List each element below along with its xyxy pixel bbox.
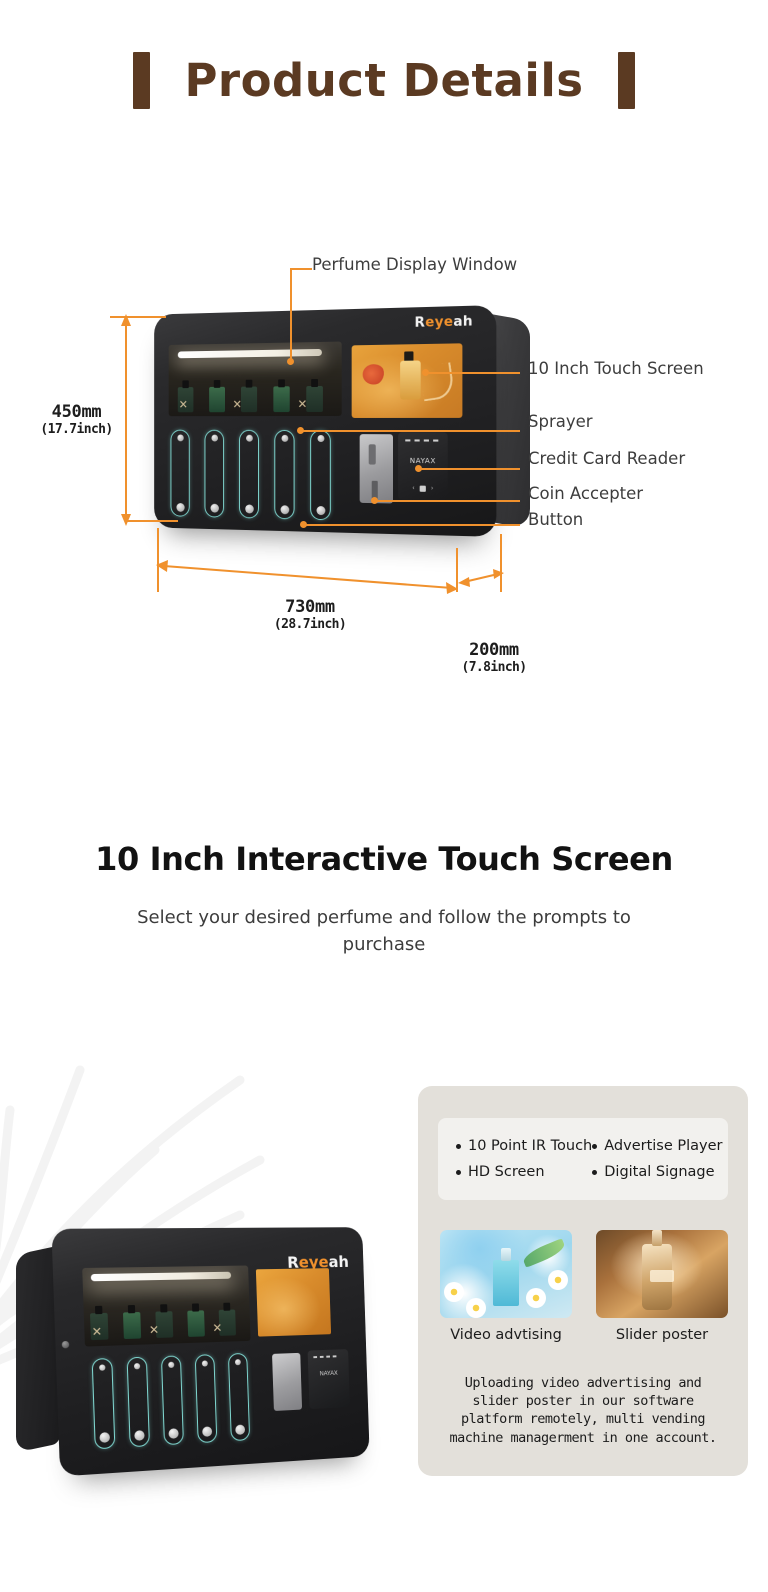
machine-front-panel: Reyeah ✕ ✕ ✕ <box>154 305 496 537</box>
vending-machine-illustration: Reyeah ✕ ✕ ✕ <box>144 310 492 532</box>
leader-line-card-reader <box>418 468 520 470</box>
leader-dot-display-window <box>287 358 294 365</box>
leader-dot-sprayer <box>297 427 304 434</box>
leader-line-display-window-h <box>290 268 312 270</box>
feature-item-digital-signage: Digital Signage <box>592 1164 724 1180</box>
daisy-flower-icon <box>444 1282 464 1302</box>
leader-line-touch-screen <box>425 372 520 374</box>
daisy-flower-icon <box>548 1270 568 1290</box>
dispensing-slot-row <box>170 430 351 523</box>
ribbon-decoration: ✕ <box>230 399 245 410</box>
dimension-label-width: 730mm (28.7inch) <box>230 597 390 632</box>
card-reader-brand-label: NAYAX <box>308 1370 349 1378</box>
dispensing-slot[interactable] <box>204 430 224 518</box>
feature-label: HD Screen <box>468 1164 545 1180</box>
thumbnail-gallery: Video advtising Slider poster <box>440 1230 728 1343</box>
perfume-bottle <box>187 1310 205 1337</box>
perfume-bottle <box>209 387 225 412</box>
feature-label: 10 Point IR Touch <box>468 1138 592 1154</box>
machine-photo-coin-accepter[interactable] <box>272 1353 302 1411</box>
thumbnail-image-blue-perfume[interactable] <box>440 1230 572 1318</box>
thumbnail-caption: Video advtising <box>440 1327 572 1343</box>
perfume-bottle <box>123 1312 141 1339</box>
dimension-arrow-depth <box>456 566 506 590</box>
dispensing-slot[interactable] <box>161 1355 184 1445</box>
feature-label: Digital Signage <box>604 1164 714 1180</box>
machine-brand-logo: Reyeah <box>415 314 473 331</box>
daisy-flower-icon <box>466 1298 486 1318</box>
touchscreen-section-heading: 10 Inch Interactive Touch Screen <box>0 840 768 878</box>
dispensing-slot[interactable] <box>239 430 259 519</box>
touchscreen-section-subheading: Select your desired perfume and follow t… <box>0 904 768 958</box>
ribbon-decoration: ✕ <box>176 400 191 411</box>
dispensing-slot[interactable] <box>170 430 189 517</box>
card-reader-keypad[interactable]: ‹› <box>398 485 448 492</box>
dispensing-slot[interactable] <box>195 1354 218 1443</box>
thumbnail-video-advertising[interactable]: Video advtising <box>440 1230 572 1343</box>
dimension-label-depth: 200mm (7.8inch) <box>424 640 564 675</box>
leader-line-display-window <box>290 268 292 362</box>
dispensing-slot[interactable] <box>127 1357 150 1448</box>
feature-label: Advertise Player <box>604 1138 722 1154</box>
ribbon-decoration: ✕ <box>295 399 311 410</box>
features-info-panel: 10 Point IR Touch Advertise Player HD Sc… <box>418 1086 748 1476</box>
callout-touch-screen: 10 Inch Touch Screen <box>528 359 704 378</box>
bullet-dot-icon <box>592 1144 597 1149</box>
vending-machine-photo: Reyeah ✕ ✕ ✕ <box>28 1228 380 1468</box>
callout-button: Button <box>528 510 583 529</box>
machine-photo-touch-screen[interactable] <box>256 1268 331 1336</box>
touch-screen-display[interactable] <box>352 343 463 418</box>
thumbnail-image-gold-perfume[interactable] <box>596 1230 728 1318</box>
leader-line-coin-accepter <box>375 500 520 502</box>
callout-credit-card-reader: Credit Card Reader <box>528 449 685 468</box>
coin-accepter-unit[interactable] <box>360 434 393 503</box>
dimension-arrow-width <box>152 558 462 594</box>
machine-lock-icon <box>62 1341 70 1349</box>
bottle-label-band <box>650 1270 674 1282</box>
daisy-flower-icon <box>526 1288 546 1308</box>
card-reader-brand-label: NAYAX <box>398 457 448 466</box>
card-reader-leds <box>313 1355 336 1358</box>
thumbnail-slider-poster[interactable]: Slider poster <box>596 1230 728 1343</box>
feature-item-hd-screen: HD Screen <box>456 1164 592 1180</box>
machine-photo-slot-row <box>92 1352 264 1451</box>
machine-photo-bottle-row: ✕ ✕ ✕ <box>85 1291 250 1340</box>
machine-photo-display-window: ✕ ✕ ✕ <box>82 1265 250 1346</box>
card-reader-leds <box>405 439 438 441</box>
leader-dot-coin-accepter <box>371 497 378 504</box>
screen-flower-graphic <box>362 364 384 385</box>
dispensing-slot[interactable] <box>274 430 294 520</box>
thumbnail-caption: Slider poster <box>596 1327 728 1343</box>
machine-photo-card-reader[interactable]: NAYAX <box>308 1349 350 1409</box>
bullet-dot-icon <box>456 1170 461 1175</box>
feature-item-advertise-player: Advertise Player <box>592 1138 724 1154</box>
dispensing-slot[interactable] <box>228 1353 250 1441</box>
perfume-bottle <box>273 386 289 412</box>
product-dimension-diagram: Reyeah ✕ ✕ ✕ <box>0 0 768 760</box>
display-light-bar <box>178 349 322 358</box>
ribbon-decoration: ✕ <box>209 1323 225 1334</box>
software-platform-note: Uploading video advertising and slider p… <box>442 1374 724 1447</box>
callout-sprayer: Sprayer <box>528 412 593 431</box>
ribbon-decoration: ✕ <box>88 1326 105 1338</box>
feature-bullet-card: 10 Point IR Touch Advertise Player HD Sc… <box>438 1118 728 1200</box>
dispensing-slot[interactable] <box>92 1358 116 1449</box>
credit-card-reader-unit[interactable]: NAYAX ‹› <box>398 432 448 500</box>
ribbon-decoration: ✕ <box>146 1325 162 1337</box>
dimension-label-height: 450mm (17.7inch) <box>24 402 129 437</box>
screen-bottle-graphic <box>400 360 421 399</box>
perfume-bottle-row: ✕ ✕ ✕ <box>172 368 341 413</box>
leaf-graphic <box>521 1238 567 1267</box>
leader-line-sprayer <box>301 430 520 432</box>
feature-item-ir-touch: 10 Point IR Touch <box>456 1138 592 1154</box>
machine-photo-front-panel: Reyeah ✕ ✕ ✕ <box>51 1227 369 1476</box>
callout-perfume-display-window: Perfume Display Window <box>312 255 517 274</box>
perfume-display-window: ✕ ✕ ✕ <box>169 342 342 417</box>
blue-perfume-bottle <box>493 1260 519 1306</box>
leader-dot-button <box>300 521 307 528</box>
bullet-dot-icon <box>456 1144 461 1149</box>
callout-coin-accepter: Coin Accepter <box>528 484 643 503</box>
bullet-dot-icon <box>592 1170 597 1175</box>
machine-photo-light-bar <box>91 1272 231 1282</box>
leader-dot-card-reader <box>415 465 422 472</box>
leader-line-button <box>305 524 520 526</box>
dispensing-slot[interactable] <box>310 430 331 520</box>
leader-dot-touch-screen <box>422 369 429 376</box>
